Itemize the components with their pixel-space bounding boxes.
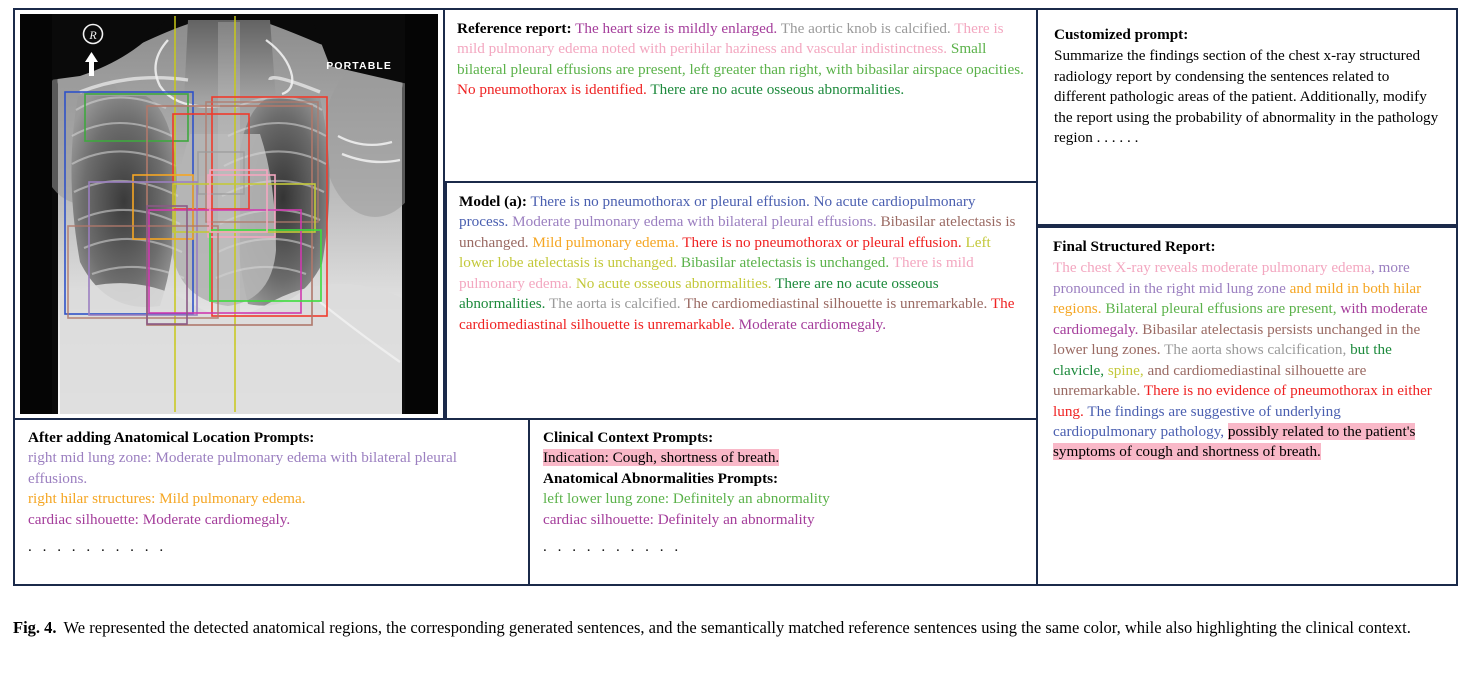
ref-seg-heart: The heart size is mildly enlarged.: [575, 20, 777, 37]
customized-prompt-body: Summarize the findings section of the ch…: [1054, 46, 1442, 148]
ref-seg-aorta: The aortic knob is calcified.: [781, 20, 951, 37]
figure-number: Fig. 4.: [13, 618, 57, 637]
fin-seg-12: The aorta shows calcification,: [1164, 341, 1346, 358]
anat-ellipsis: . . . . . . . . . .: [28, 537, 517, 557]
fin-seg-1: ,: [1371, 259, 1379, 276]
clin-ellipsis: . . . . . . . . . .: [543, 537, 1025, 557]
clinical-context-prompts-text: Clinical Context Prompts: Indication: Co…: [530, 420, 1036, 562]
clinical-context-prompts-heading: Clinical Context Prompts:: [543, 429, 713, 446]
figure-caption-text: We represented the detected anatomical r…: [64, 618, 1411, 637]
final-report-body: The chest X-ray reveals moderate pulmona…: [1053, 258, 1443, 462]
model-a-text: Model (a): There is no pneumothorax or p…: [447, 183, 1036, 341]
figure-caption: Fig. 4.We represented the detected anato…: [13, 617, 1458, 638]
ref-seg-pneumo: No pneumothorax is identified.: [457, 81, 647, 98]
fin-seg-6: Bilateral pleural effusions are present,: [1105, 300, 1336, 317]
report-stack: Reference report: The heart size is mild…: [445, 8, 1038, 420]
clin-item-0: left lower lung zone: Definitely an abno…: [543, 489, 1025, 509]
anatomical-location-prompts-text: After adding Anatomical Location Prompts…: [15, 420, 528, 562]
model-a-panel: Model (a): There is no pneumothorax or p…: [445, 183, 1038, 420]
figure-container: R PORTABLE: [0, 0, 1471, 683]
customized-prompt-heading: Customized prompt:: [1054, 26, 1188, 43]
anat-item-0: right mid lung zone: Moderate pulmonary …: [28, 448, 517, 489]
portable-label: PORTABLE: [326, 60, 392, 72]
right-column: Customized prompt: Summarize the finding…: [1038, 8, 1458, 586]
reference-report-heading: Reference report:: [457, 20, 572, 37]
fin-seg-0: The chest X-ray reveals moderate pulmona…: [1053, 259, 1371, 276]
anat-item-1: right hilar structures: Mild pulmonary e…: [28, 489, 517, 509]
xray-svg: R PORTABLE: [20, 14, 438, 414]
final-structured-report-panel: Final Structured Report: The chest X-ray…: [1038, 226, 1458, 586]
ref-seg-osseous: There are no acute osseous abnormalities…: [650, 81, 904, 98]
mdl-seg-8: No acute osseous abnormalities.: [576, 275, 772, 292]
svg-text:R: R: [88, 28, 97, 42]
reference-report-text: Reference report: The heart size is mild…: [445, 10, 1036, 107]
anat-item-2: cardiac silhouette: Moderate cardiomegal…: [28, 510, 517, 530]
bottom-row: After adding Anatomical Location Prompts…: [13, 420, 1038, 586]
top-row: R PORTABLE: [13, 8, 1038, 420]
panel-grid: R PORTABLE: [13, 8, 1458, 586]
clin-item-1: cardiac silhouette: Definitely an abnorm…: [543, 510, 1025, 530]
mdl-seg-1: Moderate pulmonary edema with bilateral …: [512, 213, 877, 230]
mdl-seg-4: There is no pneumothorax or pleural effu…: [682, 234, 961, 251]
anatomical-location-prompts-panel: After adding Anatomical Location Prompts…: [13, 420, 530, 586]
anatomical-location-prompts-heading: After adding Anatomical Location Prompts…: [28, 429, 314, 446]
clinical-context-prompts-panel: Clinical Context Prompts: Indication: Co…: [530, 420, 1038, 586]
indication-highlight: Indication: Cough, shortness of breath.: [543, 449, 779, 466]
mdl-seg-10: The aorta is calcified.: [549, 295, 681, 312]
xray-image: R PORTABLE: [20, 14, 438, 414]
mdl-seg-13: Moderate cardiomegaly.: [739, 316, 886, 333]
customized-prompt-text: Customized prompt: Summarize the finding…: [1038, 10, 1456, 155]
mdl-seg-11: The cardiomediastinal silhouette is unre…: [684, 295, 987, 312]
customized-prompt-panel: Customized prompt: Summarize the finding…: [1038, 8, 1458, 226]
final-structured-report-text: Final Structured Report: The chest X-ray…: [1038, 228, 1456, 469]
fin-seg-16: spine,: [1108, 362, 1144, 379]
final-report-heading: Final Structured Report:: [1053, 238, 1216, 255]
model-a-heading: Model (a):: [459, 193, 527, 210]
mdl-seg-6: Bibasilar atelectasis is unchanged.: [681, 254, 889, 271]
reference-report-panel: Reference report: The heart size is mild…: [445, 8, 1038, 183]
left-columns: R PORTABLE: [13, 8, 1038, 586]
mdl-seg-3: Mild pulmonary edema.: [532, 234, 678, 251]
xray-panel: R PORTABLE: [13, 8, 445, 420]
anatomical-abnormalities-heading: Anatomical Abnormalities Prompts:: [543, 470, 778, 487]
